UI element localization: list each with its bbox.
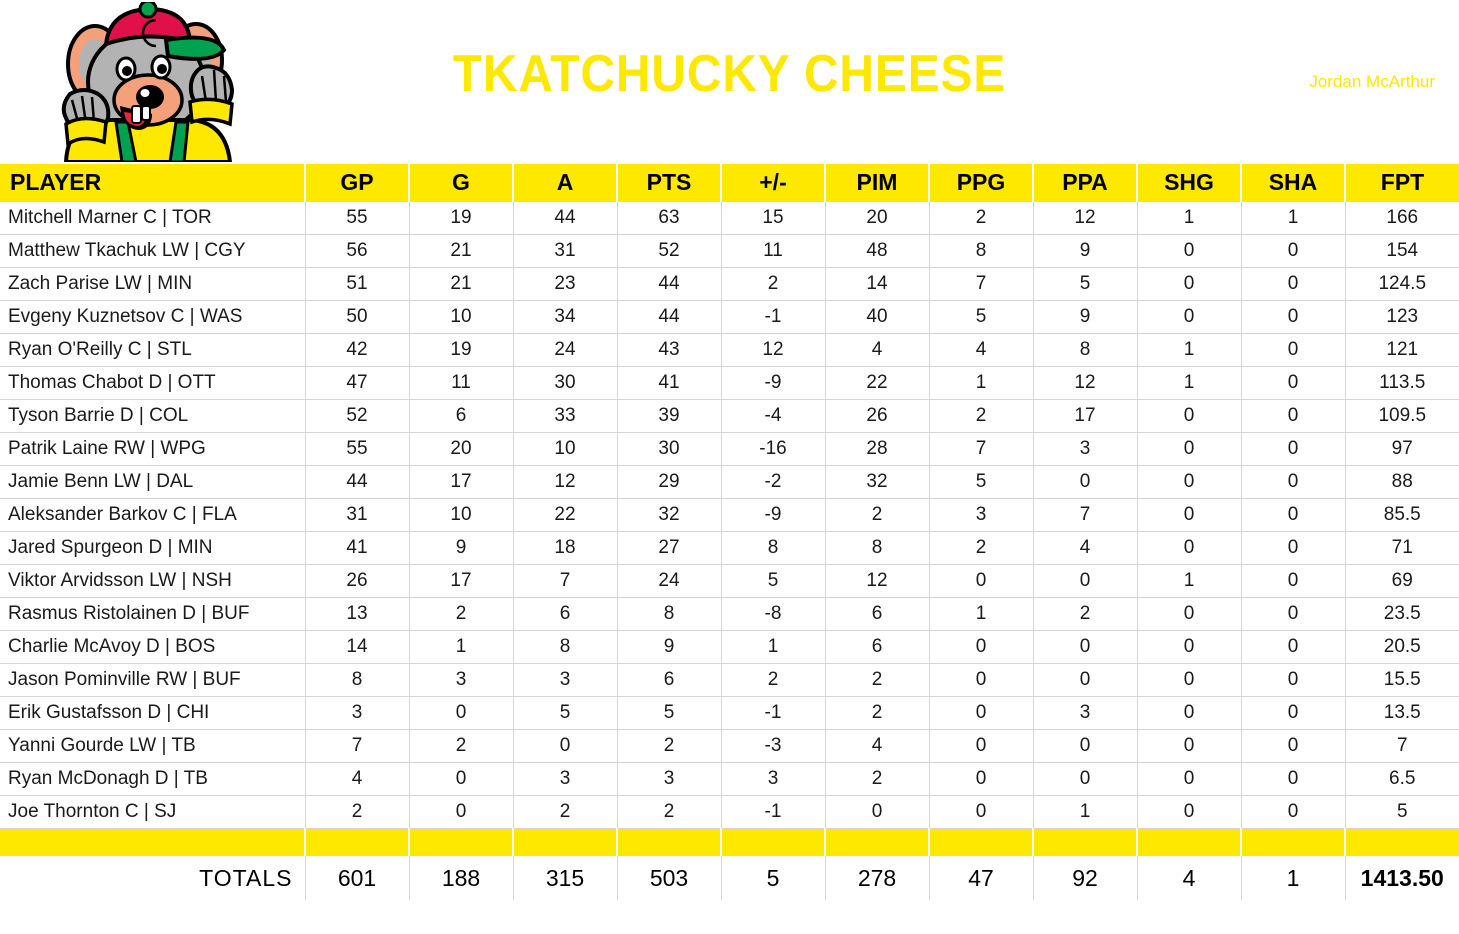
cell-goals: 19 <box>409 201 513 234</box>
spacer-cell <box>0 828 305 856</box>
cell-plus-minus: 11 <box>721 234 825 267</box>
cell-goals: 17 <box>409 564 513 597</box>
cell-goals: 9 <box>409 531 513 564</box>
cell-gp: 3 <box>305 696 409 729</box>
cell-sha: 0 <box>1241 762 1345 795</box>
cell-sha: 0 <box>1241 300 1345 333</box>
cell-pim: 4 <box>825 729 929 762</box>
cell-gp: 55 <box>305 432 409 465</box>
table-row[interactable]: Erik Gustafsson D | CHI3055-12030013.5 <box>0 696 1459 729</box>
table-row[interactable]: Rasmus Ristolainen D | BUF13268-86120023… <box>0 597 1459 630</box>
column-header-plusminus[interactable]: +/- <box>721 163 825 201</box>
cell-plus-minus: -2 <box>721 465 825 498</box>
cell-sha: 0 <box>1241 564 1345 597</box>
totals-g: 188 <box>409 856 513 900</box>
cell-player-name[interactable]: Rasmus Ristolainen D | BUF <box>0 597 305 630</box>
cell-player-name[interactable]: Aleksander Barkov C | FLA <box>0 498 305 531</box>
cell-fantasy-points: 166 <box>1345 201 1459 234</box>
cell-fantasy-points: 97 <box>1345 432 1459 465</box>
cell-fantasy-points: 88 <box>1345 465 1459 498</box>
cell-shg: 0 <box>1137 531 1241 564</box>
cell-gp: 41 <box>305 531 409 564</box>
cell-ppa: 5 <box>1033 267 1137 300</box>
cell-plus-minus: -1 <box>721 300 825 333</box>
spacer-cell <box>929 828 1033 856</box>
cell-goals: 10 <box>409 300 513 333</box>
cell-plus-minus: -1 <box>721 696 825 729</box>
cell-pim: 48 <box>825 234 929 267</box>
table-row[interactable]: Patrik Laine RW | WPG55201030-1628730097 <box>0 432 1459 465</box>
cell-ppa: 0 <box>1033 762 1137 795</box>
cell-gp: 50 <box>305 300 409 333</box>
cell-assists: 3 <box>513 762 617 795</box>
table-row[interactable]: Jamie Benn LW | DAL44171229-232500088 <box>0 465 1459 498</box>
cell-assists: 2 <box>513 795 617 828</box>
cell-gp: 4 <box>305 762 409 795</box>
table-row[interactable]: Evgeny Kuznetsov C | WAS50103444-1405900… <box>0 300 1459 333</box>
totals-ppa: 92 <box>1033 856 1137 900</box>
cell-points: 29 <box>617 465 721 498</box>
cell-ppg: 0 <box>929 729 1033 762</box>
table-row[interactable]: Joe Thornton C | SJ2022-1001005 <box>0 795 1459 828</box>
cell-ppa: 9 <box>1033 234 1137 267</box>
cell-gp: 51 <box>305 267 409 300</box>
spacer-cell <box>1241 828 1345 856</box>
cell-points: 32 <box>617 498 721 531</box>
cell-fantasy-points: 85.5 <box>1345 498 1459 531</box>
cell-ppg: 0 <box>929 663 1033 696</box>
cell-sha: 0 <box>1241 729 1345 762</box>
cell-gp: 52 <box>305 399 409 432</box>
column-header-pts[interactable]: PTS <box>617 163 721 201</box>
spacer-cell <box>409 828 513 856</box>
column-header-ppa[interactable]: PPA <box>1033 163 1137 201</box>
cell-points: 8 <box>617 597 721 630</box>
cell-shg: 0 <box>1137 762 1241 795</box>
cell-player-name[interactable]: Patrik Laine RW | WPG <box>0 432 305 465</box>
cell-assists: 5 <box>513 696 617 729</box>
cell-shg: 0 <box>1137 465 1241 498</box>
cell-gp: 2 <box>305 795 409 828</box>
table-row[interactable]: Thomas Chabot D | OTT47113041-9221121011… <box>0 366 1459 399</box>
cell-ppa: 0 <box>1033 564 1137 597</box>
cell-player-name[interactable]: Matthew Tkachuk LW | CGY <box>0 234 305 267</box>
cell-sha: 1 <box>1241 201 1345 234</box>
cell-player-name[interactable]: Jared Spurgeon D | MIN <box>0 531 305 564</box>
column-header-player[interactable]: PLAYER <box>0 163 305 201</box>
cell-plus-minus: -16 <box>721 432 825 465</box>
cell-points: 39 <box>617 399 721 432</box>
cell-pim: 4 <box>825 333 929 366</box>
cell-goals: 1 <box>409 630 513 663</box>
cell-gp: 56 <box>305 234 409 267</box>
cell-ppa: 9 <box>1033 300 1137 333</box>
cell-goals: 17 <box>409 465 513 498</box>
cell-sha: 0 <box>1241 267 1345 300</box>
cell-sha: 0 <box>1241 795 1345 828</box>
cell-shg: 0 <box>1137 267 1241 300</box>
cell-ppg: 2 <box>929 399 1033 432</box>
cell-goals: 2 <box>409 729 513 762</box>
cell-player-name[interactable]: Ryan McDonagh D | TB <box>0 762 305 795</box>
cell-plus-minus: 12 <box>721 333 825 366</box>
cell-gp: 26 <box>305 564 409 597</box>
column-header-ppg[interactable]: PPG <box>929 163 1033 201</box>
cell-plus-minus: 1 <box>721 630 825 663</box>
cell-pim: 0 <box>825 795 929 828</box>
cell-ppa: 2 <box>1033 597 1137 630</box>
cell-points: 41 <box>617 366 721 399</box>
spacer-cell <box>1137 828 1241 856</box>
cell-pim: 26 <box>825 399 929 432</box>
cell-assists: 24 <box>513 333 617 366</box>
totals-fpt: 1413.50 <box>1345 856 1459 900</box>
cell-player-name[interactable]: Thomas Chabot D | OTT <box>0 366 305 399</box>
cell-assists: 33 <box>513 399 617 432</box>
cell-assists: 12 <box>513 465 617 498</box>
cell-ppa: 7 <box>1033 498 1137 531</box>
cell-assists: 7 <box>513 564 617 597</box>
spacer-cell <box>825 828 929 856</box>
cell-ppg: 0 <box>929 762 1033 795</box>
cell-ppg: 7 <box>929 432 1033 465</box>
cell-ppg: 5 <box>929 300 1033 333</box>
cell-ppa: 3 <box>1033 696 1137 729</box>
cell-sha: 0 <box>1241 465 1345 498</box>
cell-sha: 0 <box>1241 663 1345 696</box>
cell-pim: 2 <box>825 663 929 696</box>
cell-assists: 3 <box>513 663 617 696</box>
table-row[interactable]: Charlie McAvoy D | BOS1418916000020.5 <box>0 630 1459 663</box>
cell-ppg: 0 <box>929 564 1033 597</box>
cell-goals: 21 <box>409 267 513 300</box>
cell-plus-minus: -3 <box>721 729 825 762</box>
cell-sha: 0 <box>1241 531 1345 564</box>
totals-sha: 1 <box>1241 856 1345 900</box>
cell-assists: 6 <box>513 597 617 630</box>
cell-sha: 0 <box>1241 333 1345 366</box>
totals-plusminus: 5 <box>721 856 825 900</box>
spacer-row <box>0 828 1459 856</box>
cell-gp: 42 <box>305 333 409 366</box>
cell-pim: 6 <box>825 630 929 663</box>
cell-shg: 0 <box>1137 399 1241 432</box>
cell-plus-minus: -1 <box>721 795 825 828</box>
column-header-sha[interactable]: SHA <box>1241 163 1345 201</box>
cell-shg: 0 <box>1137 432 1241 465</box>
cell-player-name[interactable]: Zach Parise LW | MIN <box>0 267 305 300</box>
cell-fantasy-points: 13.5 <box>1345 696 1459 729</box>
table-row[interactable]: Tyson Barrie D | COL5263339-42621700109.… <box>0 399 1459 432</box>
totals-pts: 503 <box>617 856 721 900</box>
cell-sha: 0 <box>1241 597 1345 630</box>
cell-points: 44 <box>617 267 721 300</box>
cell-goals: 0 <box>409 795 513 828</box>
cell-fantasy-points: 123 <box>1345 300 1459 333</box>
player-stats-table: PLAYER GP G A PTS +/- PIM PPG PPA SHG SH… <box>0 162 1459 900</box>
cell-shg: 1 <box>1137 564 1241 597</box>
table-footer: TOTALS 601 188 315 503 5 278 47 92 4 1 1… <box>0 828 1459 900</box>
cell-fantasy-points: 7 <box>1345 729 1459 762</box>
cell-gp: 44 <box>305 465 409 498</box>
cell-points: 6 <box>617 663 721 696</box>
cell-shg: 0 <box>1137 630 1241 663</box>
cell-pim: 8 <box>825 531 929 564</box>
table-row[interactable]: Ryan O'Reilly C | STL421924431244810121 <box>0 333 1459 366</box>
cell-pim: 6 <box>825 597 929 630</box>
cell-sha: 0 <box>1241 432 1345 465</box>
column-header-fpt[interactable]: FPT <box>1345 163 1459 201</box>
cell-ppg: 2 <box>929 201 1033 234</box>
cell-goals: 11 <box>409 366 513 399</box>
totals-row: TOTALS 601 188 315 503 5 278 47 92 4 1 1… <box>0 856 1459 900</box>
cell-player-name[interactable]: Joe Thornton C | SJ <box>0 795 305 828</box>
cell-shg: 0 <box>1137 300 1241 333</box>
cell-sha: 0 <box>1241 696 1345 729</box>
cell-points: 52 <box>617 234 721 267</box>
cell-ppg: 1 <box>929 597 1033 630</box>
cell-ppa: 3 <box>1033 432 1137 465</box>
cell-ppa: 0 <box>1033 663 1137 696</box>
cell-fantasy-points: 124.5 <box>1345 267 1459 300</box>
totals-ppg: 47 <box>929 856 1033 900</box>
header-row: PLAYER GP G A PTS +/- PIM PPG PPA SHG SH… <box>0 163 1459 201</box>
cell-assists: 44 <box>513 201 617 234</box>
cell-plus-minus: 5 <box>721 564 825 597</box>
cell-ppg: 0 <box>929 795 1033 828</box>
cell-gp: 47 <box>305 366 409 399</box>
cell-shg: 0 <box>1137 795 1241 828</box>
cell-pim: 14 <box>825 267 929 300</box>
cell-fantasy-points: 15.5 <box>1345 663 1459 696</box>
page-title: TKATCHUCKY CHEESE <box>58 48 1400 100</box>
cell-sha: 0 <box>1241 234 1345 267</box>
cell-ppg: 5 <box>929 465 1033 498</box>
totals-a: 315 <box>513 856 617 900</box>
cell-plus-minus: 8 <box>721 531 825 564</box>
cell-pim: 32 <box>825 465 929 498</box>
cell-points: 30 <box>617 432 721 465</box>
cell-ppa: 0 <box>1033 630 1137 663</box>
cell-fantasy-points: 5 <box>1345 795 1459 828</box>
table-row[interactable]: Jason Pominville RW | BUF833622000015.5 <box>0 663 1459 696</box>
cell-player-name[interactable]: Evgeny Kuznetsov C | WAS <box>0 300 305 333</box>
cell-fantasy-points: 71 <box>1345 531 1459 564</box>
table-row[interactable]: Zach Parise LW | MIN512123442147500124.5 <box>0 267 1459 300</box>
table-row[interactable]: Mitchell Marner C | TOR55194463152021211… <box>0 201 1459 234</box>
cell-player-name[interactable]: Jamie Benn LW | DAL <box>0 465 305 498</box>
totals-pim: 278 <box>825 856 929 900</box>
cell-points: 27 <box>617 531 721 564</box>
cell-points: 9 <box>617 630 721 663</box>
table-row[interactable]: Yanni Gourde LW | TB7202-3400007 <box>0 729 1459 762</box>
cell-assists: 10 <box>513 432 617 465</box>
cell-ppa: 1 <box>1033 795 1137 828</box>
cell-points: 63 <box>617 201 721 234</box>
cell-pim: 20 <box>825 201 929 234</box>
cell-pim: 2 <box>825 762 929 795</box>
cell-gp: 8 <box>305 663 409 696</box>
totals-shg: 4 <box>1137 856 1241 900</box>
cell-gp: 55 <box>305 201 409 234</box>
cell-plus-minus: -4 <box>721 399 825 432</box>
cell-pim: 22 <box>825 366 929 399</box>
cell-plus-minus: -9 <box>721 498 825 531</box>
cell-shg: 0 <box>1137 696 1241 729</box>
cell-ppg: 0 <box>929 630 1033 663</box>
cell-pim: 28 <box>825 432 929 465</box>
cell-fantasy-points: 113.5 <box>1345 366 1459 399</box>
column-header-pim[interactable]: PIM <box>825 163 929 201</box>
cell-ppa: 12 <box>1033 366 1137 399</box>
cell-goals: 2 <box>409 597 513 630</box>
table-row[interactable]: Ryan McDonagh D | TB40333200006.5 <box>0 762 1459 795</box>
totals-gp: 601 <box>305 856 409 900</box>
cell-fantasy-points: 154 <box>1345 234 1459 267</box>
cell-player-name[interactable]: Ryan O'Reilly C | STL <box>0 333 305 366</box>
cell-sha: 0 <box>1241 498 1345 531</box>
cell-goals: 10 <box>409 498 513 531</box>
cell-ppa: 8 <box>1033 333 1137 366</box>
cell-ppg: 0 <box>929 696 1033 729</box>
cell-goals: 6 <box>409 399 513 432</box>
cell-fantasy-points: 69 <box>1345 564 1459 597</box>
cell-plus-minus: -8 <box>721 597 825 630</box>
cell-fantasy-points: 20.5 <box>1345 630 1459 663</box>
spacer-cell <box>305 828 409 856</box>
cell-points: 44 <box>617 300 721 333</box>
cell-ppa: 0 <box>1033 465 1137 498</box>
cell-ppg: 8 <box>929 234 1033 267</box>
spacer-cell <box>513 828 617 856</box>
cell-plus-minus: 2 <box>721 663 825 696</box>
cell-ppg: 1 <box>929 366 1033 399</box>
cell-fantasy-points: 121 <box>1345 333 1459 366</box>
cell-sha: 0 <box>1241 399 1345 432</box>
cell-ppa: 0 <box>1033 729 1137 762</box>
cell-player-name[interactable]: Tyson Barrie D | COL <box>0 399 305 432</box>
cell-player-name[interactable]: Jason Pominville RW | BUF <box>0 663 305 696</box>
cell-points: 3 <box>617 762 721 795</box>
cell-assists: 30 <box>513 366 617 399</box>
fantasy-hockey-stats-page: TKATCHUCKY CHEESE Jordan McArthur PLAYER… <box>0 0 1459 934</box>
cell-goals: 20 <box>409 432 513 465</box>
cell-assists: 8 <box>513 630 617 663</box>
cell-goals: 21 <box>409 234 513 267</box>
cell-ppg: 3 <box>929 498 1033 531</box>
spacer-cell <box>1033 828 1137 856</box>
cell-goals: 3 <box>409 663 513 696</box>
cell-gp: 14 <box>305 630 409 663</box>
cell-shg: 1 <box>1137 201 1241 234</box>
cell-ppa: 17 <box>1033 399 1137 432</box>
cell-plus-minus: 15 <box>721 201 825 234</box>
cell-shg: 1 <box>1137 366 1241 399</box>
cell-ppa: 12 <box>1033 201 1137 234</box>
cell-fantasy-points: 109.5 <box>1345 399 1459 432</box>
cell-assists: 0 <box>513 729 617 762</box>
cell-assists: 34 <box>513 300 617 333</box>
cell-points: 2 <box>617 795 721 828</box>
cell-player-name[interactable]: Yanni Gourde LW | TB <box>0 729 305 762</box>
cell-assists: 22 <box>513 498 617 531</box>
cell-plus-minus: 3 <box>721 762 825 795</box>
cell-shg: 1 <box>1137 333 1241 366</box>
cell-goals: 0 <box>409 696 513 729</box>
cell-ppg: 2 <box>929 531 1033 564</box>
spacer-cell <box>721 828 825 856</box>
cell-player-name[interactable]: Viktor Arvidsson LW | NSH <box>0 564 305 597</box>
cell-fantasy-points: 6.5 <box>1345 762 1459 795</box>
cell-points: 5 <box>617 696 721 729</box>
cell-sha: 0 <box>1241 630 1345 663</box>
cell-assists: 18 <box>513 531 617 564</box>
cell-shg: 0 <box>1137 663 1241 696</box>
column-header-a[interactable]: A <box>513 163 617 201</box>
cell-goals: 19 <box>409 333 513 366</box>
cell-points: 43 <box>617 333 721 366</box>
cell-fantasy-points: 23.5 <box>1345 597 1459 630</box>
cell-player-name[interactable]: Charlie McAvoy D | BOS <box>0 630 305 663</box>
cell-gp: 13 <box>305 597 409 630</box>
cell-plus-minus: -9 <box>721 366 825 399</box>
table-row[interactable]: Aleksander Barkov C | FLA31102232-923700… <box>0 498 1459 531</box>
table-row[interactable]: Matthew Tkachuk LW | CGY5621315211488900… <box>0 234 1459 267</box>
cell-assists: 23 <box>513 267 617 300</box>
cell-ppg: 4 <box>929 333 1033 366</box>
cell-pim: 12 <box>825 564 929 597</box>
spacer-cell <box>617 828 721 856</box>
cell-points: 24 <box>617 564 721 597</box>
column-header-shg[interactable]: SHG <box>1137 163 1241 201</box>
cell-shg: 0 <box>1137 729 1241 762</box>
cell-assists: 31 <box>513 234 617 267</box>
cell-points: 2 <box>617 729 721 762</box>
cell-shg: 0 <box>1137 597 1241 630</box>
cell-shg: 0 <box>1137 234 1241 267</box>
cell-plus-minus: 2 <box>721 267 825 300</box>
spacer-cell <box>1345 828 1459 856</box>
table-header: PLAYER GP G A PTS +/- PIM PPG PPA SHG SH… <box>0 163 1459 201</box>
cell-player-name[interactable]: Mitchell Marner C | TOR <box>0 201 305 234</box>
column-header-g[interactable]: G <box>409 163 513 201</box>
cell-gp: 7 <box>305 729 409 762</box>
cell-goals: 0 <box>409 762 513 795</box>
totals-label: TOTALS <box>0 856 305 900</box>
cell-ppg: 7 <box>929 267 1033 300</box>
cell-player-name[interactable]: Erik Gustafsson D | CHI <box>0 696 305 729</box>
table-row[interactable]: Jared Spurgeon D | MIN419182788240071 <box>0 531 1459 564</box>
cell-pim: 2 <box>825 498 929 531</box>
table-row[interactable]: Viktor Arvidsson LW | NSH261772451200106… <box>0 564 1459 597</box>
page-banner: TKATCHUCKY CHEESE Jordan McArthur <box>0 0 1459 162</box>
cell-pim: 40 <box>825 300 929 333</box>
cell-gp: 31 <box>305 498 409 531</box>
column-header-gp[interactable]: GP <box>305 163 409 201</box>
cell-ppa: 4 <box>1033 531 1137 564</box>
cell-sha: 0 <box>1241 366 1345 399</box>
team-owner-label: Jordan McArthur <box>1309 72 1435 92</box>
cell-shg: 0 <box>1137 498 1241 531</box>
table-body: Mitchell Marner C | TOR55194463152021211… <box>0 201 1459 828</box>
cell-pim: 2 <box>825 696 929 729</box>
